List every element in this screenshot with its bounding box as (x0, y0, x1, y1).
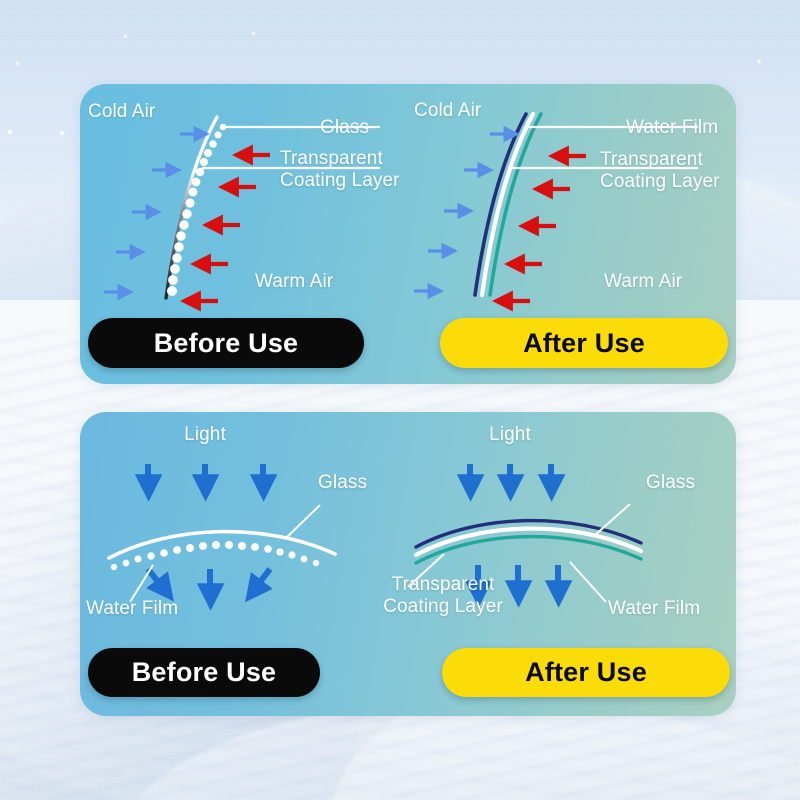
pill-after-use[interactable]: After Use (440, 318, 728, 368)
label-water-film: Water Film (626, 117, 718, 139)
scattered-light-arrows (148, 569, 270, 597)
label-cold-air: Cold Air (88, 101, 155, 123)
label-light: Light (165, 424, 245, 446)
sparkle-icon (758, 60, 761, 63)
pill-before-use-label: Before Use (154, 328, 299, 359)
sparkle-icon (60, 131, 64, 135)
label-transparent-coating-layer: Transparent Coating Layer (600, 149, 720, 193)
label-transparent-coating-layer: Transparent Coating Layer (280, 148, 400, 192)
label-water-film: Water Film (608, 598, 700, 620)
label-water-film: Water Film (86, 598, 178, 620)
infographic-stage: Cold Air Warm Air Glass Transparent Coat… (0, 0, 800, 800)
panel-light-after: Light Glass Water Film Transparent Coati… (408, 412, 736, 716)
label-glass: Glass (318, 472, 367, 494)
sparkle-icon (16, 62, 19, 65)
label-warm-air: Warm Air (604, 271, 682, 293)
incoming-light-arrows (148, 464, 263, 488)
label-glass: Glass (320, 117, 369, 139)
label-glass: Glass (646, 472, 695, 494)
panel-light-before: Light Glass Water Film Before Use (80, 412, 408, 716)
pill-before-use-label: Before Use (132, 657, 277, 688)
panel-light-transmission: Light Glass Water Film Before Use (80, 412, 736, 716)
panel-condensation-before: Cold Air Warm Air Glass Transparent Coat… (80, 84, 408, 384)
label-transparent-coating-layer: Transparent Coating Layer (358, 574, 528, 618)
condensation-droplets (167, 124, 226, 296)
pill-after-use-label: After Use (523, 328, 645, 359)
pill-after-use-label: After Use (525, 657, 647, 688)
label-warm-air: Warm Air (255, 271, 333, 293)
sparkle-icon (8, 130, 12, 134)
sparkle-icon (124, 35, 127, 38)
pill-after-use[interactable]: After Use (442, 648, 730, 697)
pill-before-use[interactable]: Before Use (88, 648, 320, 697)
glass-arc (109, 532, 335, 558)
panel-condensation: Cold Air Warm Air Glass Transparent Coat… (80, 84, 736, 384)
panel-condensation-after: Cold Air Warm Air Water Film Transparent… (408, 84, 736, 384)
pill-before-use[interactable]: Before Use (88, 318, 364, 368)
incoming-light-arrows (470, 464, 551, 488)
sparkle-icon (252, 32, 255, 35)
label-cold-air: Cold Air (414, 100, 481, 122)
label-light: Light (470, 424, 550, 446)
